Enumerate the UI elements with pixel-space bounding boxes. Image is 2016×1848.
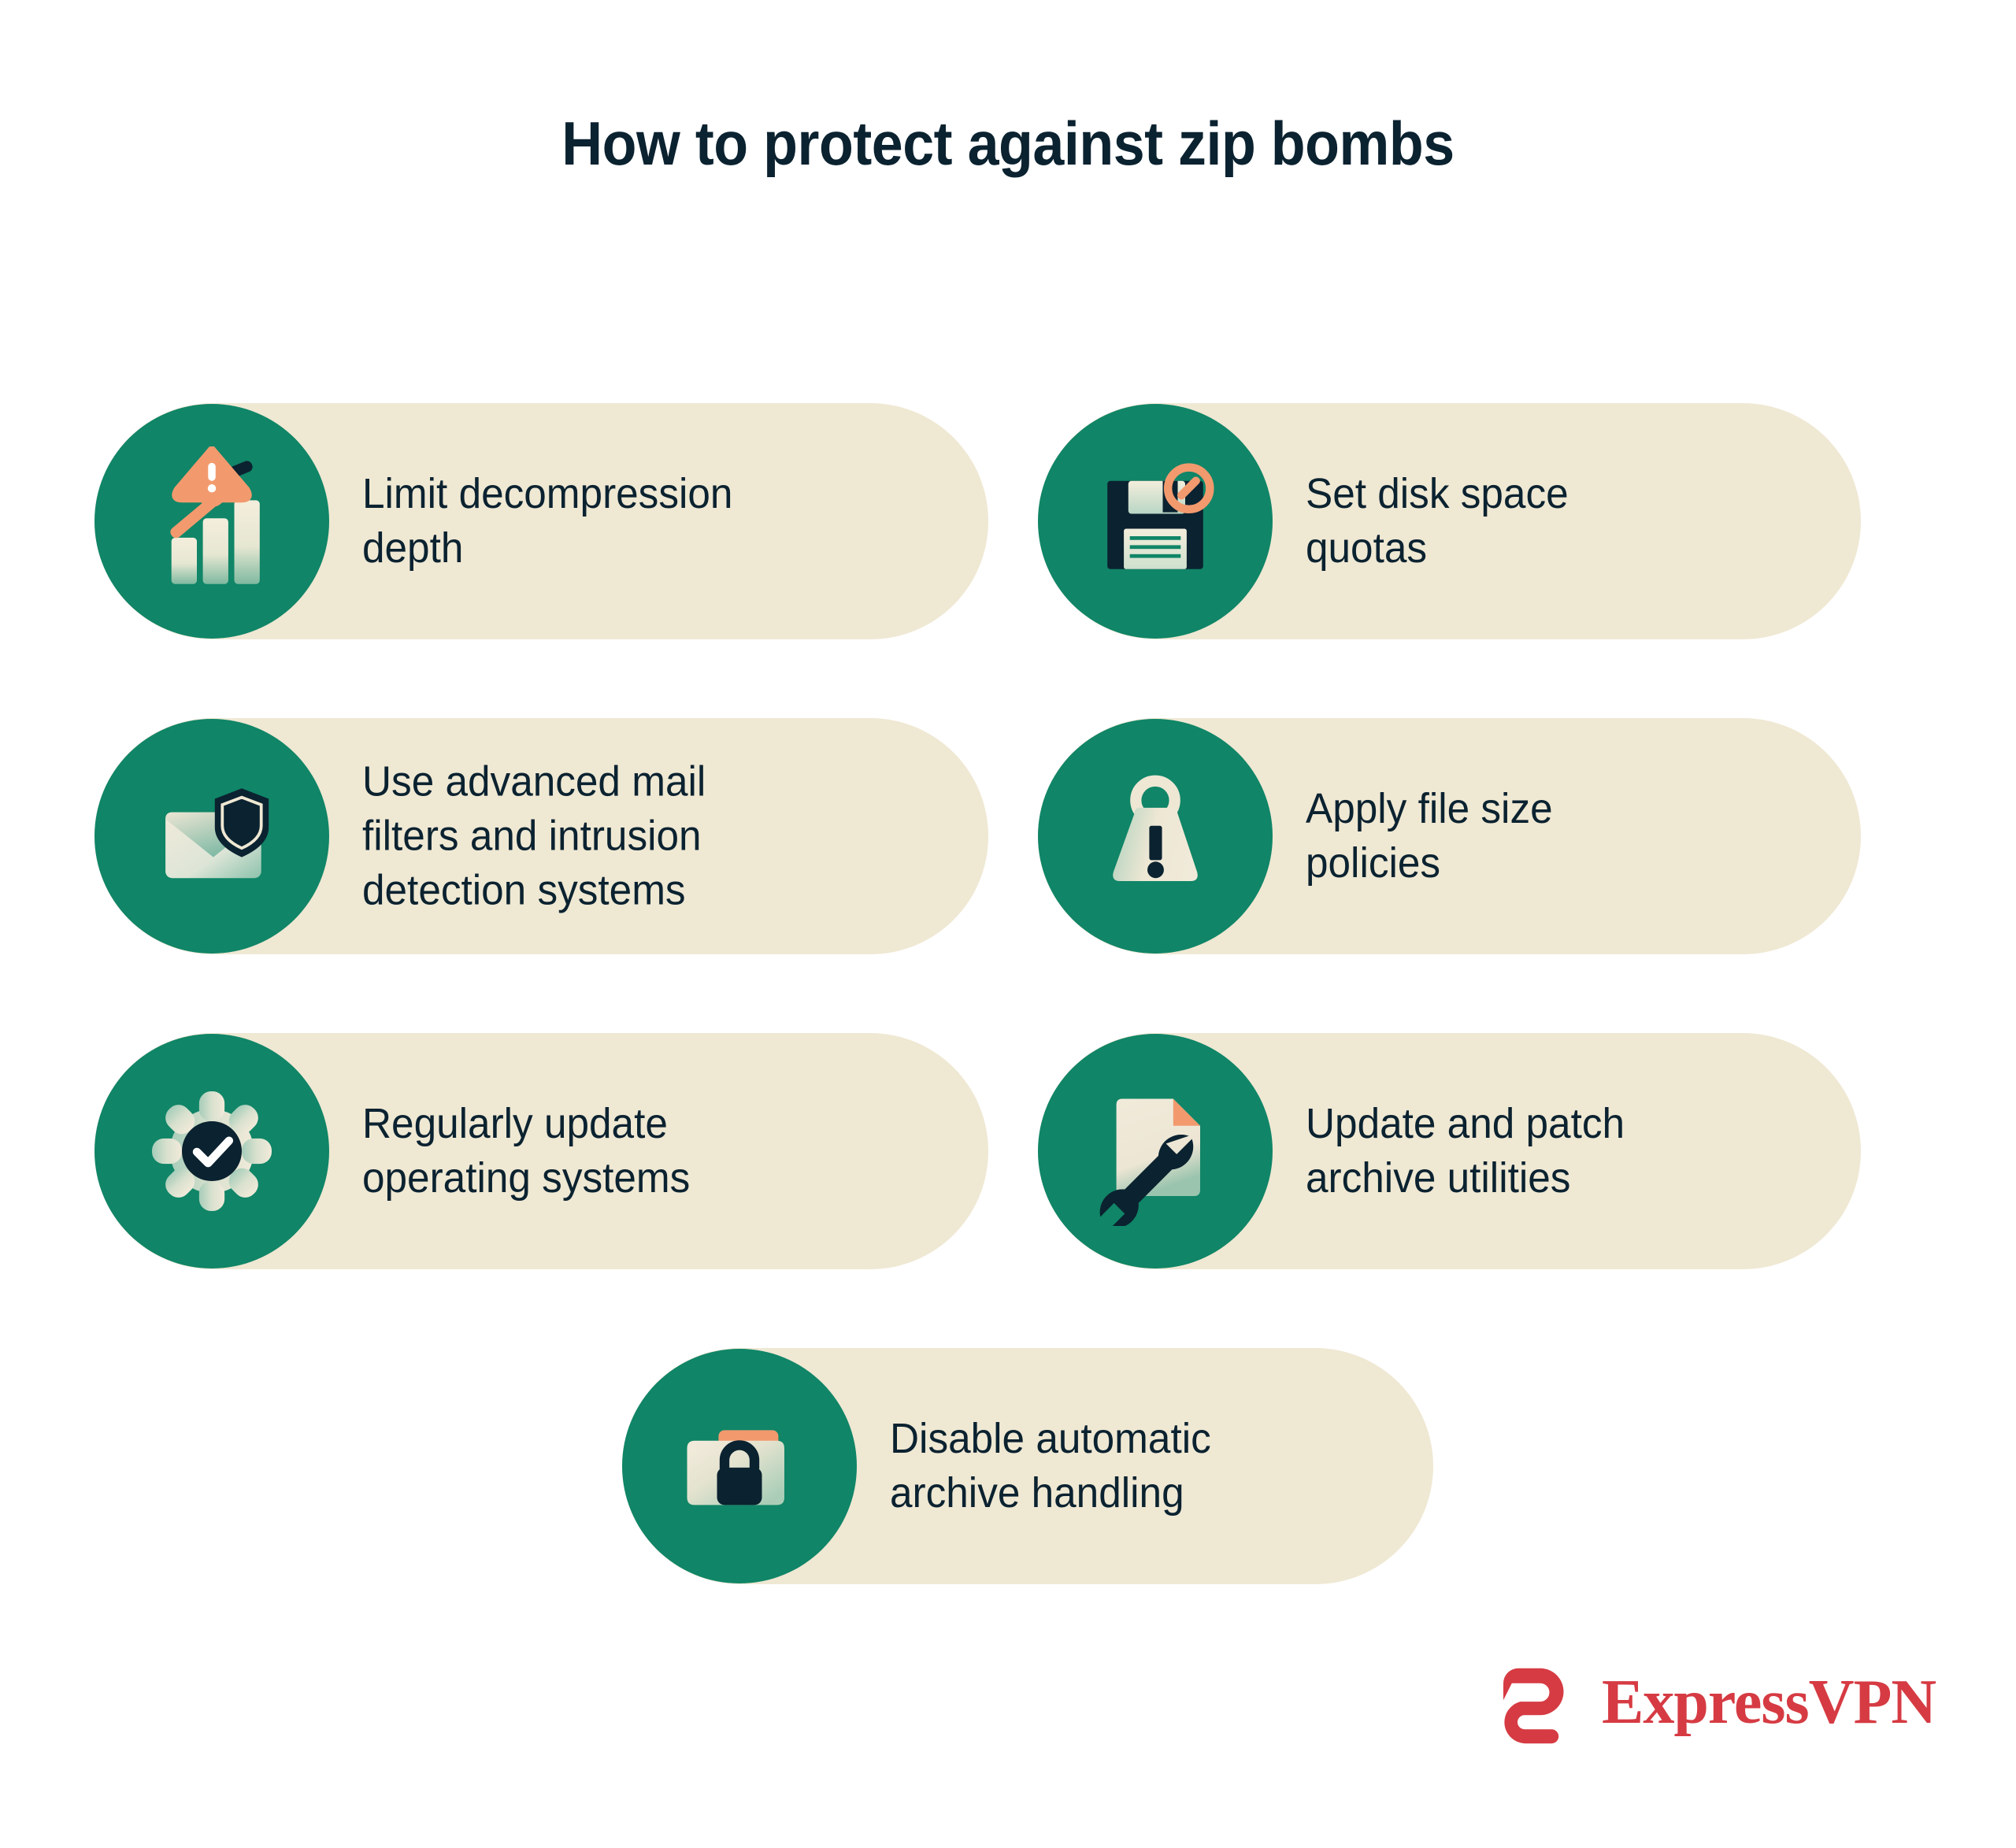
card-label: Regularly update operating systems (362, 1097, 705, 1205)
gear-checkmark-icon (94, 1034, 329, 1268)
infographic-page: How to protect against zip bombs (0, 0, 2016, 1848)
card-label: Limit decompression depth (362, 467, 747, 576)
card-label: Apply file size policies (1306, 782, 1568, 891)
expressvpn-logo: ExpressVPN (1496, 1660, 1936, 1745)
document-wrench-icon (1038, 1034, 1273, 1268)
card-regularly-update-operating-systems[interactable]: Regularly update operating systems (94, 1033, 988, 1269)
card-label: Disable automatic archive handling (890, 1412, 1226, 1520)
weight-exclamation-icon (1038, 719, 1273, 954)
card-use-advanced-mail-filters[interactable]: Use advanced mail filters and intrusion … (94, 718, 988, 954)
folder-lock-icon (622, 1349, 857, 1583)
card-limit-decompression-depth[interactable]: Limit decompression depth (94, 403, 988, 639)
card-grid: Limit decompression depth (0, 0, 2016, 1848)
card-label: Use advanced mail filters and intrusion … (362, 754, 721, 917)
envelope-shield-icon (94, 719, 329, 954)
card-update-and-patch-archive-utilities[interactable]: Update and patch archive utilities (1038, 1033, 1861, 1269)
logo-wordmark: ExpressVPN (1602, 1671, 1936, 1734)
card-set-disk-space-quotas[interactable]: Set disk space quotas (1038, 403, 1861, 639)
warning-gauge-bar-chart-icon (94, 404, 329, 639)
card-label: Set disk space quotas (1306, 467, 1584, 576)
floppy-disk-prohibited-icon (1038, 404, 1273, 639)
card-label: Update and patch archive utilities (1306, 1097, 1640, 1205)
card-apply-file-size-policies[interactable]: Apply file size policies (1038, 718, 1861, 954)
card-disable-automatic-archive-handling[interactable]: Disable automatic archive handling (622, 1348, 1433, 1584)
expressvpn-e-mark-icon (1496, 1660, 1581, 1745)
